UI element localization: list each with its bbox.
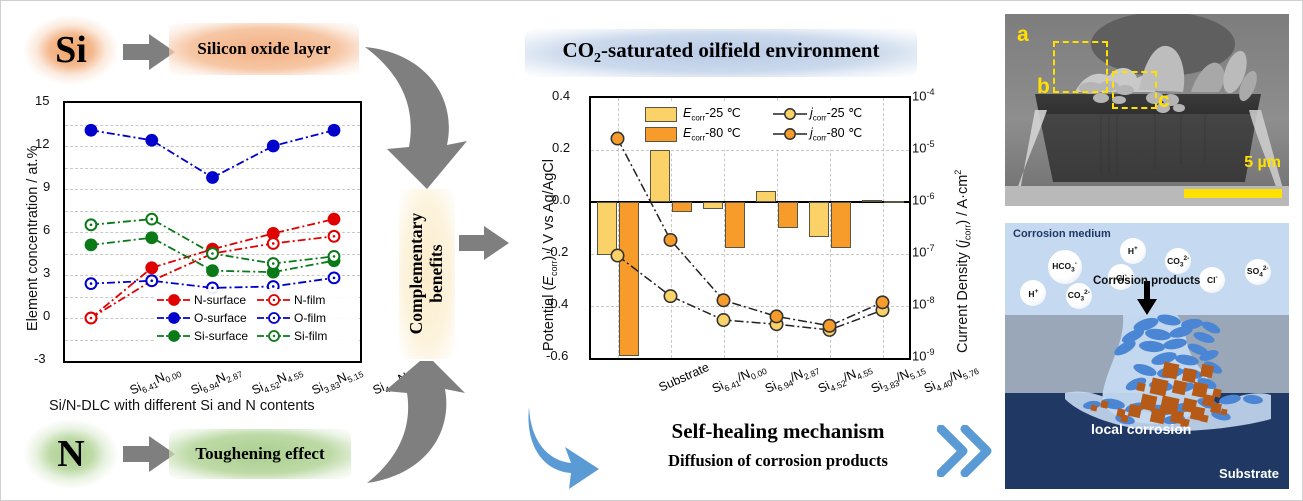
x-tick-label: Substrate	[656, 360, 711, 395]
legend-marker-icon	[257, 293, 291, 307]
legend-label: jcorr-80 ℃	[810, 125, 862, 143]
element-concentration-legend: N-surfaceN-filmO-surfaceO-filmSi-surface…	[155, 289, 359, 351]
legend-label: Ecorr-25 ℃	[683, 105, 741, 123]
element-concentration-ylabel: Element concentration / at.%	[25, 146, 41, 331]
self-healing-arrow-icon	[521, 399, 603, 491]
y-tick-6: 6	[43, 222, 50, 237]
corrosion-product-square	[1090, 404, 1097, 411]
local-corrosion-label: local corrosion	[1091, 421, 1191, 437]
n-symbol-text: N	[57, 432, 84, 476]
x-tick-label: Si4.52N4.55	[249, 363, 304, 400]
legend-label: jcorr-25 ℃	[810, 105, 862, 123]
legend-marker-icon	[157, 293, 191, 307]
curved-arrow-up-icon	[331, 361, 471, 491]
y-tick-9: 9	[43, 179, 50, 194]
y-tick-3: 3	[43, 265, 50, 280]
x-tick-label: Si4.40/N5.76	[921, 360, 980, 398]
x-tick-label: Si6.41/N0.00	[709, 360, 768, 398]
corrosion-product-square	[1220, 408, 1227, 415]
sem-label-b: b	[1037, 75, 1050, 99]
corrosion-chart: Ecorr-25 ℃jcorr-25 ℃Ecorr-80 ℃jcorr-80 ℃	[589, 96, 911, 360]
legend-marker-icon	[157, 329, 191, 343]
legend-marker-icon	[773, 127, 807, 141]
legend-swatch	[645, 107, 677, 122]
self-healing-title-text: Self-healing mechanism	[672, 419, 885, 443]
self-healing-title: Self-healing mechanism	[613, 419, 943, 444]
toughening-effect-text: Toughening effect	[195, 444, 324, 464]
legend-label: O-film	[294, 311, 326, 325]
self-healing-subtitle-text: Diffusion of corrosion products	[668, 451, 888, 470]
toughening-effect-badge: Toughening effect	[169, 429, 351, 479]
ion-bubble: H+	[1120, 238, 1146, 264]
corrosion-chart-y2label: Current Density (jcorr) / A·cm2	[953, 170, 973, 353]
self-healing-subtitle: Diffusion of corrosion products	[613, 451, 943, 471]
element-concentration-xlabel: Si/N-DLC with different Si and N content…	[49, 398, 315, 414]
substrate-label: Substrate	[1219, 466, 1279, 481]
mc-y2-tick-1e-7: 10-7	[912, 243, 934, 259]
ion-bubble: SO42-	[1245, 259, 1271, 285]
ion-bubble: CO32-	[1066, 283, 1092, 309]
legend-item-o-surface: O-surface	[157, 311, 257, 325]
si-arrow-icon	[123, 31, 175, 73]
ion-bubble: HCO3-	[1048, 250, 1082, 284]
complementary-benefits-badge: Complementary benefits	[399, 189, 455, 359]
sem-scalebar	[1184, 189, 1282, 198]
mc-y2-tick-1e-6: 10-6	[912, 191, 934, 207]
y-tick-0: 0	[43, 308, 50, 323]
element-concentration-chart: N-surfaceN-filmO-surfaceO-filmSi-surface…	[63, 101, 362, 363]
x-tick-label: Si3.83/N5.15	[868, 360, 927, 398]
legend-label: N-surface	[194, 293, 246, 307]
legend-marker-icon	[773, 107, 807, 121]
corrosion-schematic: HCO3-H+CO32-SO42-Cl-Cl-H+CO32- Corrosion…	[1005, 223, 1289, 489]
legend-item-si-surface: Si-surface	[157, 329, 257, 343]
n-arrow-icon	[123, 433, 175, 475]
sem-label-c: c	[1158, 89, 1170, 113]
x-tick-label: Si6.41N0.00	[128, 363, 183, 400]
legend-item-o-film: O-film	[257, 311, 357, 325]
corrosion-product-square	[1128, 404, 1142, 418]
complementary-benefits-line2: benefits	[427, 213, 447, 335]
legend-label: O-surface	[194, 311, 247, 325]
corrosion-product-square	[1150, 378, 1169, 397]
co2-environment-title-text: CO2-saturated oilfield environment	[563, 38, 880, 67]
legend-item-n-surface: N-surface	[157, 293, 257, 307]
x-tick-label: Si4.52/N4.55	[815, 360, 874, 398]
mc-y2-tick-1e-8: 10-8	[912, 295, 934, 311]
corrosion-products-label: Corrosion products	[1093, 275, 1200, 287]
corrosion-product-square	[1200, 364, 1214, 378]
legend-item-n-film: N-film	[257, 293, 357, 307]
ion-bubble: Cl-	[1199, 267, 1225, 293]
double-chevron-right-icon	[937, 425, 999, 477]
sem-region-c-box	[1112, 71, 1157, 109]
legend-item-si-film: Si-film	[257, 329, 357, 343]
y-tick-minus3: -3	[34, 351, 46, 366]
complementary-benefits-line1: Complementary	[407, 213, 427, 335]
sem-region-b-box	[1053, 41, 1108, 93]
legend-marker-icon	[257, 329, 291, 343]
sem-cross-section-image: a b c 5 µm	[1005, 14, 1289, 206]
complementary-to-chart-arrow-icon	[459, 223, 509, 263]
corrosion-product-square	[1100, 400, 1108, 408]
corrosion-product-square	[1136, 382, 1145, 391]
corrosion-product-square	[1172, 380, 1187, 395]
y-tick-15: 15	[35, 93, 49, 108]
sem-label-a: a	[1017, 23, 1029, 47]
legend-label: Ecorr-80 ℃	[683, 125, 741, 143]
corrosion-product-square	[1162, 362, 1180, 380]
legend-marker-icon	[257, 311, 291, 325]
mc-y-tick-0.4: 0.4	[552, 88, 570, 103]
legend-item-jcorr-80-: jcorr-80 ℃	[773, 125, 878, 143]
legend-label: N-film	[294, 293, 325, 307]
mc-y-tick-0.2: 0.2	[552, 140, 570, 155]
corrosion-medium-label: Corrosion medium	[1013, 228, 1111, 240]
legend-item-jcorr-25-: jcorr-25 ℃	[773, 105, 878, 123]
sem-scalebar-label: 5 µm	[1244, 154, 1281, 172]
legend-swatch	[645, 127, 677, 142]
x-tick-label: Si6.94N2.87	[188, 363, 243, 400]
mc-y2-tick-1e-5: 10-5	[912, 139, 934, 155]
si-element-badge: Si	[23, 15, 119, 85]
x-tick-label: Si6.94/N2.87	[762, 360, 821, 398]
corrosion-chart-ylabel: Potential (Ecorr) / V vs Ag/AgCl	[541, 159, 559, 351]
corrosion-product-square	[1212, 388, 1221, 397]
legend-label: Si-film	[294, 329, 327, 343]
n-element-badge: N	[23, 419, 119, 489]
curved-arrow-down-icon	[331, 37, 471, 197]
legend-item-ecorr-25-: Ecorr-25 ℃	[645, 105, 773, 123]
legend-marker-icon	[157, 311, 191, 325]
legend-item-ecorr-80-: Ecorr-80 ℃	[645, 125, 773, 143]
legend-label: Si-surface	[194, 329, 248, 343]
graphical-abstract: Si Silicon oxide layer N-surfaceN-filmO-…	[0, 0, 1303, 501]
mc-y2-tick-1e-9: 10-9	[912, 347, 934, 363]
silicon-oxide-layer-text: Silicon oxide layer	[197, 39, 330, 59]
corrosion-legend: Ecorr-25 ℃jcorr-25 ℃Ecorr-80 ℃jcorr-80 ℃	[643, 102, 882, 150]
corrosion-product-square	[1200, 414, 1208, 422]
mc-y2-tick-1e-4: 10-4	[912, 87, 934, 103]
si-symbol-text: Si	[55, 28, 87, 72]
co2-environment-title-badge: CO2-saturated oilfield environment	[525, 29, 917, 77]
